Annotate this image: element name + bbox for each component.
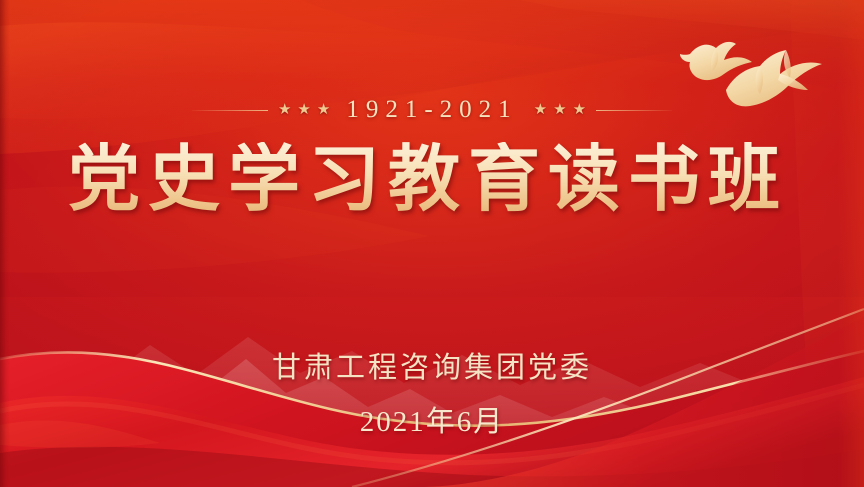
slide-footer: 甘肃工程咨询集团党委 2021年6月 [0, 344, 864, 440]
presentation-date: 2021年6月 [0, 398, 864, 440]
star-icon: ★ [573, 103, 586, 118]
band-rule-left [192, 110, 268, 111]
page-title: 党史学习教育读书班 [68, 142, 796, 220]
centenary-year-band: ★ ★ ★ 1921-2021 ★ ★ ★ [192, 96, 672, 124]
centenary-year-text: 1921-2021 [340, 96, 523, 124]
band-rule-right [596, 110, 672, 111]
stars-left: ★ ★ ★ [278, 103, 330, 118]
star-icon: ★ [297, 103, 310, 118]
star-icon: ★ [553, 103, 566, 118]
star-icon: ★ [534, 103, 547, 118]
star-icon: ★ [317, 103, 330, 118]
stars-right: ★ ★ ★ [534, 103, 586, 118]
star-icon: ★ [278, 103, 291, 118]
presentation-title-slide: ★ ★ ★ 1921-2021 ★ ★ ★ 党史学习教育读书班 甘肃工程咨询集团… [0, 0, 864, 487]
organization-name: 甘肃工程咨询集团党委 [0, 344, 864, 386]
